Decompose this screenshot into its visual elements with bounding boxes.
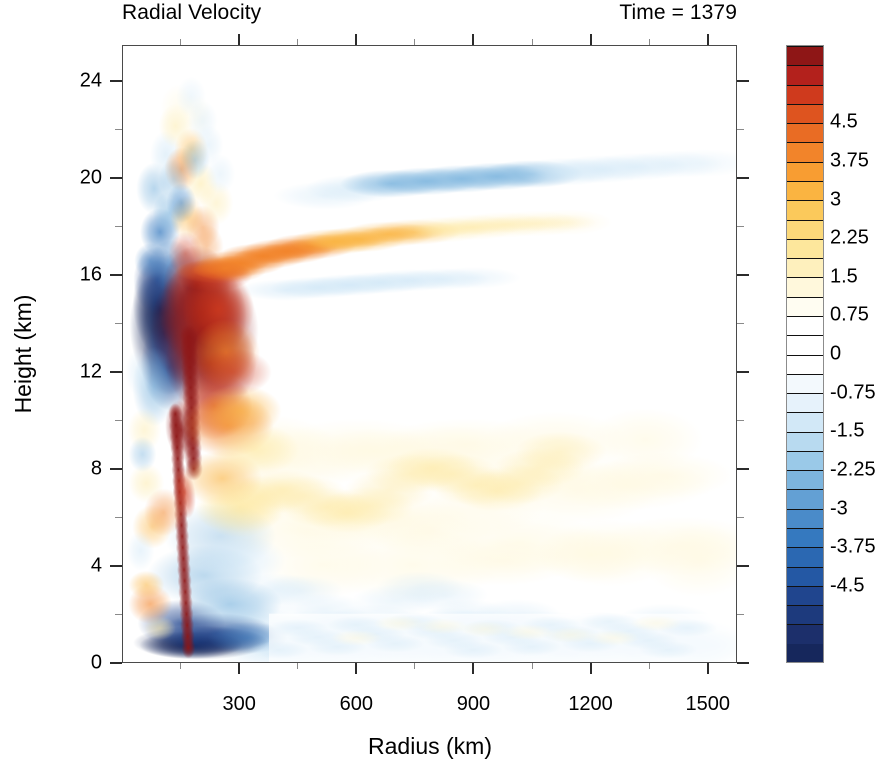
colorbar-cell xyxy=(787,123,823,142)
field-blob xyxy=(192,348,272,396)
y-tick-label: 20 xyxy=(80,167,102,190)
y-tick-right xyxy=(737,177,749,179)
field-blob xyxy=(373,615,425,631)
colorbar-cell xyxy=(787,412,823,431)
y-tick-right xyxy=(737,274,749,276)
colorbar-cell xyxy=(787,162,823,181)
field-blob xyxy=(425,267,521,289)
y-tick-right-minor xyxy=(737,129,744,130)
y-tick-major xyxy=(110,80,122,82)
y-tick-right xyxy=(737,371,749,373)
field-blob xyxy=(211,424,299,476)
colorbar-cell xyxy=(787,258,823,277)
field-blob xyxy=(194,535,286,587)
field-blob xyxy=(129,436,157,472)
y-tick-label: 16 xyxy=(80,264,102,287)
field-blob xyxy=(144,616,176,640)
field-blob xyxy=(515,432,607,472)
x-tick-top xyxy=(707,34,709,45)
y-tick-right-minor xyxy=(737,614,744,615)
colorbar xyxy=(786,45,824,663)
x-axis-title: Radius (km) xyxy=(368,733,492,760)
colorbar-tick-label: -3 xyxy=(830,497,848,520)
x-tick-top-minor xyxy=(649,39,650,45)
colorbar-cell xyxy=(787,85,823,104)
colorbar-cell xyxy=(787,277,823,296)
field-blob xyxy=(459,621,511,637)
y-tick-right-minor xyxy=(737,323,744,324)
x-tick-major xyxy=(238,663,240,674)
field-blob xyxy=(630,615,682,631)
colorbar-tick-label: 0.75 xyxy=(830,304,869,327)
y-tick-major xyxy=(110,177,122,179)
field-blob xyxy=(144,488,184,536)
field-blob xyxy=(127,531,155,571)
y-tick-major xyxy=(110,468,122,470)
colorbar-cell xyxy=(787,104,823,123)
x-tick-label: 300 xyxy=(222,693,255,716)
x-tick-top-minor xyxy=(297,39,298,45)
field-blob xyxy=(205,154,235,194)
colorbar-cell xyxy=(787,142,823,161)
colorbar-tick-label: 0 xyxy=(830,343,841,366)
x-tick-minor xyxy=(532,663,533,669)
field-blob xyxy=(134,243,166,279)
y-tick-minor xyxy=(115,614,122,615)
x-tick-top-minor xyxy=(414,39,415,45)
x-tick-top-minor xyxy=(532,39,533,45)
y-tick-minor xyxy=(115,129,122,130)
colorbar-tick-label: 3 xyxy=(830,188,841,211)
x-tick-top xyxy=(472,34,474,45)
x-tick-top-minor xyxy=(180,39,181,45)
x-tick-major xyxy=(355,663,357,674)
field-blob xyxy=(176,77,206,117)
colorbar-cell xyxy=(787,567,823,586)
field-blob xyxy=(128,571,164,599)
colorbar-cell xyxy=(787,46,823,65)
y-tick-major xyxy=(110,371,122,373)
colorbar-tick-label: 1.5 xyxy=(830,265,858,288)
x-tick-major xyxy=(472,663,474,674)
x-tick-minor xyxy=(180,663,181,669)
colorbar-cell xyxy=(787,586,823,605)
colorbar-cell xyxy=(787,509,823,528)
x-tick-minor xyxy=(649,663,650,669)
field-blob xyxy=(331,630,383,646)
colorbar-cell xyxy=(787,200,823,219)
y-tick-major xyxy=(110,662,122,664)
colorbar-tick-label: -0.75 xyxy=(830,381,876,404)
colorbar-cell xyxy=(787,65,823,84)
field-blob xyxy=(180,325,198,349)
y-tick-label: 12 xyxy=(80,361,102,384)
x-tick-label: 1500 xyxy=(685,693,730,716)
colorbar-cell xyxy=(787,393,823,412)
field-blob xyxy=(545,627,597,643)
field-blob xyxy=(587,630,639,646)
colorbar-cell xyxy=(787,489,823,508)
colorbar-cell xyxy=(787,335,823,354)
colorbar-cell xyxy=(787,528,823,547)
colorbar-cell xyxy=(787,432,823,451)
y-tick-minor xyxy=(115,420,122,421)
field-blob xyxy=(638,641,698,659)
field-blob xyxy=(416,618,468,634)
field-blob xyxy=(592,453,734,499)
x-tick-major xyxy=(590,663,592,674)
y-tick-label: 24 xyxy=(80,70,102,93)
colorbar-tick-label: -2.25 xyxy=(830,458,876,481)
colorbar-cell xyxy=(787,355,823,374)
x-tick-label: 1200 xyxy=(568,693,613,716)
y-tick-minor xyxy=(115,226,122,227)
y-tick-label: 8 xyxy=(91,458,102,481)
x-tick-label: 600 xyxy=(340,693,373,716)
field-blob xyxy=(537,214,597,230)
y-tick-right xyxy=(737,80,749,82)
y-tick-right-minor xyxy=(737,226,744,227)
colorbar-cell xyxy=(787,297,823,316)
x-tick-minor xyxy=(414,663,415,669)
y-tick-right xyxy=(737,565,749,567)
colorbar-cell xyxy=(787,644,823,662)
colorbar-cell xyxy=(787,239,823,258)
colorbar-cell xyxy=(787,374,823,393)
y-tick-right xyxy=(737,468,749,470)
y-tick-minor xyxy=(115,517,122,518)
y-tick-label: 4 xyxy=(91,555,102,578)
y-tick-major xyxy=(110,274,122,276)
colorbar-tick-label: 4.5 xyxy=(830,111,858,134)
x-tick-top xyxy=(238,34,240,45)
colorbar-cell xyxy=(787,470,823,489)
field-blob xyxy=(196,477,284,537)
plot-area xyxy=(122,45,737,663)
y-tick-major xyxy=(110,565,122,567)
y-tick-right-minor xyxy=(737,420,744,421)
colorbar-tick-label: -1.5 xyxy=(830,420,864,443)
y-tick-right-minor xyxy=(737,517,744,518)
y-tick-label: 0 xyxy=(91,652,102,675)
colorbar-cell xyxy=(787,316,823,335)
colorbar-cell xyxy=(787,451,823,470)
colorbar-tick-label: 2.25 xyxy=(830,227,869,250)
colorbar-cell xyxy=(787,547,823,566)
time-annotation: Time = 1379 xyxy=(619,1,737,25)
colorbar-labels: 4.53.7532.251.50.750-0.75-1.5-2.25-3-3.7… xyxy=(830,45,894,663)
x-tick-top xyxy=(590,34,592,45)
field-blob xyxy=(190,225,224,269)
y-axis-title: Height (km) xyxy=(10,295,37,414)
heatmap-field xyxy=(123,46,736,662)
radial-velocity-figure: Radial Velocity Time = 1379 Height (km) … xyxy=(0,0,895,774)
colorbar-cell xyxy=(787,624,823,643)
colorbar-cell xyxy=(787,181,823,200)
colorbar-tick-label: -4.5 xyxy=(830,574,864,597)
x-tick-minor xyxy=(297,663,298,669)
x-tick-top xyxy=(355,34,357,45)
x-tick-label: 900 xyxy=(457,693,490,716)
colorbar-tick-label: 3.75 xyxy=(830,149,869,172)
y-tick-right xyxy=(737,662,749,664)
field-blob xyxy=(159,159,189,199)
field-blob xyxy=(126,348,152,396)
x-tick-major xyxy=(707,663,709,674)
y-tick-minor xyxy=(115,323,122,324)
colorbar-tick-label: -3.75 xyxy=(830,536,876,559)
plot-title: Radial Velocity xyxy=(122,1,261,25)
colorbar-cell xyxy=(787,220,823,239)
colorbar-cell xyxy=(787,605,823,624)
field-blob xyxy=(502,624,554,640)
